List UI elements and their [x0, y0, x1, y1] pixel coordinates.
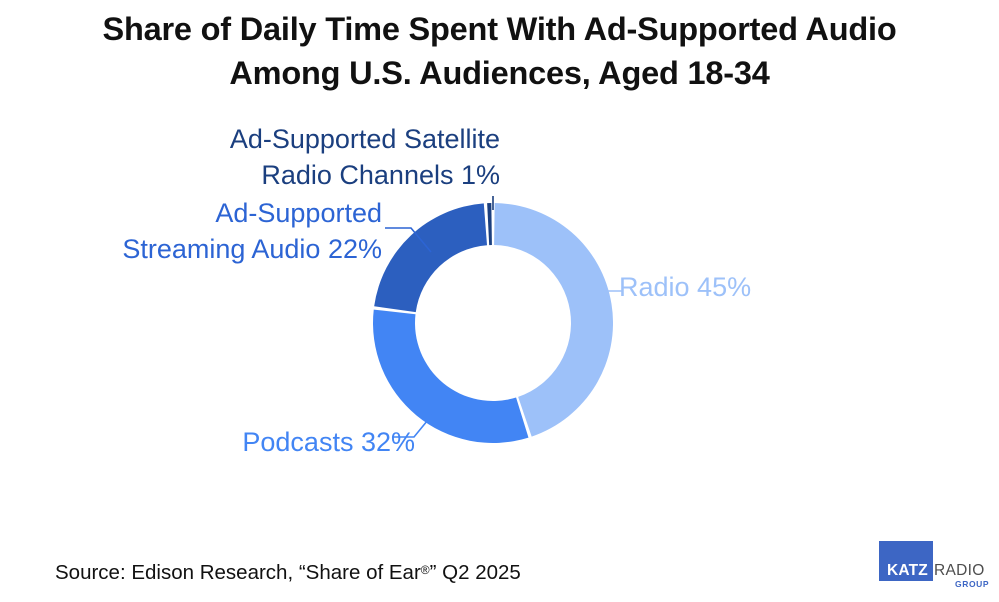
slice-label-satellite-line-1: Ad-Supported Satellite: [0, 122, 500, 158]
source-prefix: Source: Edison Research, “Share of Ear: [55, 561, 421, 584]
slice-label-satellite-line-2: Radio Channels 1%: [0, 158, 500, 194]
slice-label-streaming-audio: Ad-Supported Streaming Audio 22%: [0, 196, 382, 267]
source-suffix: ” Q2 2025: [430, 561, 521, 584]
slice-label-streaming-line-1: Ad-Supported: [0, 196, 382, 232]
slide-canvas: Share of Daily Time Spent With Ad-Suppor…: [0, 0, 999, 602]
registered-trademark-icon: ®: [421, 563, 430, 577]
slice-label-satellite: Ad-Supported Satellite Radio Channels 1%: [0, 122, 500, 193]
logo-katz-text: KATZ: [882, 563, 933, 579]
logo-radio-text: RADIO: [934, 563, 985, 579]
title-line-1: Share of Daily Time Spent With Ad-Suppor…: [0, 8, 999, 52]
katz-radio-group-logo: KATZ RADIO GROUP: [879, 541, 989, 589]
logo-group-text: GROUP: [955, 580, 989, 589]
slice-label-radio: Radio 45%: [619, 270, 751, 306]
slice-label-streaming-line-2: Streaming Audio 22%: [0, 232, 382, 268]
leader-line-streaming: [385, 226, 437, 262]
page-title: Share of Daily Time Spent With Ad-Suppor…: [0, 8, 999, 95]
slice-label-podcasts: Podcasts 32%: [0, 425, 415, 461]
leader-line-satellite: [486, 196, 500, 212]
source-note: Source: Edison Research, “Share of Ear®”…: [55, 561, 521, 585]
title-line-2: Among U.S. Audiences, Aged 18-34: [0, 52, 999, 96]
slice-label-podcasts-text: Podcasts 32%: [0, 425, 415, 461]
slice-label-radio-text: Radio 45%: [619, 270, 751, 306]
